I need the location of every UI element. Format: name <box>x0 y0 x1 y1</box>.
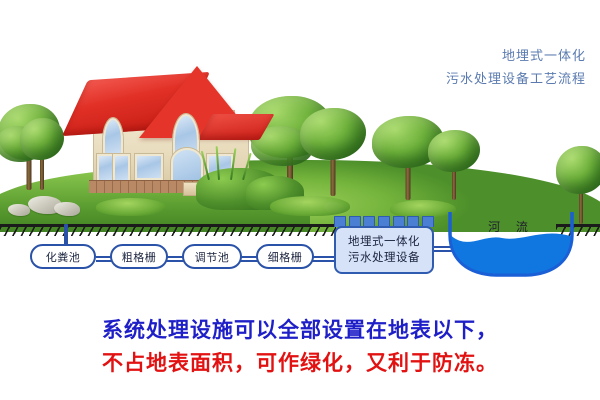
house-window-lower-mid <box>135 154 163 180</box>
house-window-attic-left <box>103 118 123 156</box>
tree-center-b <box>300 108 366 196</box>
tree-trunk <box>331 156 336 196</box>
flow-node-coarse-screen[interactable]: 粗格栅 <box>110 244 168 269</box>
bottom-caption: 系统处理设施可以全部设置在地表以下， 不占地表面积，可作绿化，又利于防冻。 <box>0 314 600 379</box>
equipment-buried-integrated-sewage[interactable]: 地埋式一体化 污水处理设备 <box>334 226 434 274</box>
house-roof-wing <box>197 114 274 140</box>
house-window-lower-left-a <box>97 154 114 182</box>
title-line-1: 地埋式一体化 <box>446 46 586 69</box>
tree-right-b <box>428 130 480 200</box>
river-label: 河 流 <box>446 218 576 235</box>
process-flow-diagram: 化粪池 粗格栅 调节池 细格栅 地埋式一体化 污水处理设备 河 流 <box>0 232 600 302</box>
equipment-label-line-2: 污水处理设备 <box>348 250 420 266</box>
diagram-title: 地埋式一体化 污水处理设备工艺流程 <box>446 46 586 92</box>
tree-trunk <box>40 156 44 190</box>
tree-crown <box>300 108 366 160</box>
flow-node-equalizing-tank[interactable]: 调节池 <box>182 244 242 269</box>
rock <box>54 202 80 216</box>
tree-trunk <box>452 168 456 200</box>
caption-line-2: 不占地表面积，可作绿化，又利于防冻。 <box>0 347 600 380</box>
grass-tuft <box>270 196 350 216</box>
grass-tuft <box>96 198 166 216</box>
title-line-2: 污水处理设备工艺流程 <box>446 69 586 92</box>
caption-line-1: 系统处理设施可以全部设置在地表以下， <box>0 314 600 347</box>
equipment-label-line-1: 地埋式一体化 <box>348 234 420 250</box>
flow-node-septic-tank[interactable]: 化粪池 <box>30 244 96 269</box>
scene-illustration <box>0 0 600 232</box>
river: 河 流 <box>446 210 576 278</box>
tree-crown <box>556 146 600 194</box>
tree-crown <box>428 130 480 172</box>
tree-trunk <box>579 190 583 224</box>
house-window-lower-left-b <box>113 154 130 182</box>
flow-node-fine-screen[interactable]: 细格栅 <box>256 244 314 269</box>
rock <box>8 204 30 216</box>
diagram-canvas: 地埋式一体化 污水处理设备工艺流程 化粪池 粗格栅 调节池 细格栅 <box>0 0 600 400</box>
